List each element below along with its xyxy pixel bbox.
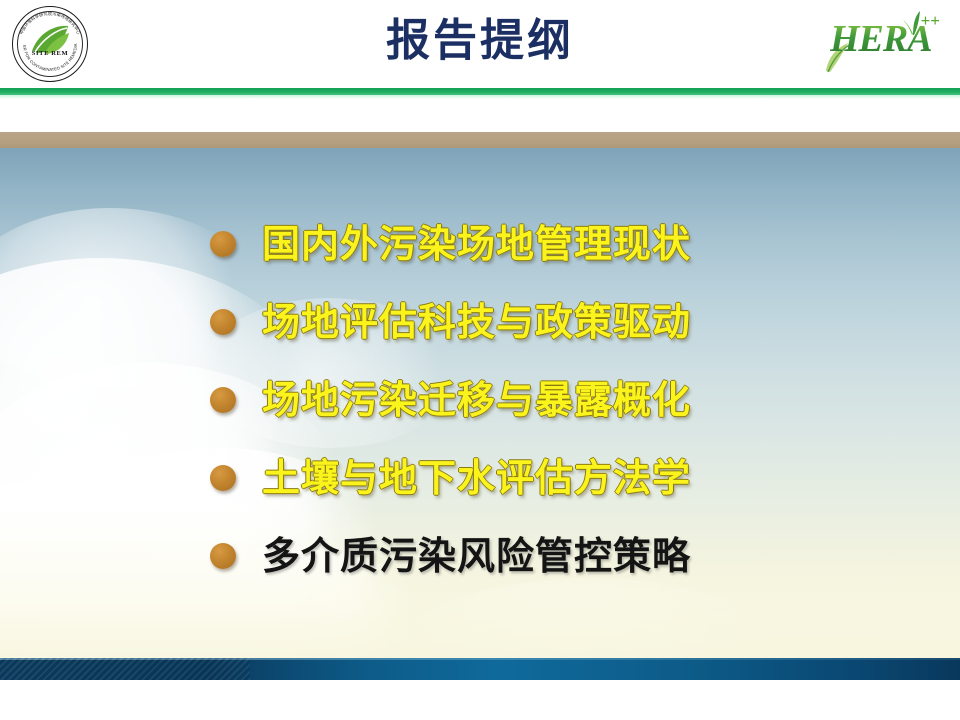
list-item-label: 多介质污染风险管控策略 bbox=[262, 537, 691, 575]
bullet-dot-icon bbox=[210, 465, 236, 491]
list-item-label: 场地评估科技与政策驱动 bbox=[262, 303, 691, 341]
bullet-dot-icon bbox=[210, 387, 236, 413]
green-divider-rule bbox=[0, 88, 960, 95]
tan-accent-bar bbox=[0, 132, 960, 148]
list-item-label: 场地污染迁移与暴露概化 bbox=[262, 381, 691, 419]
list-item[interactable]: 多介质污染风险管控策略 bbox=[210, 517, 830, 595]
bullet-dot-icon bbox=[210, 231, 236, 257]
header-white-gap bbox=[0, 99, 960, 132]
bullet-dot-icon bbox=[210, 309, 236, 335]
list-item[interactable]: 土壤与地下水评估方法学 bbox=[210, 439, 830, 517]
presentation-slide: 中国环境科学研究院污染场地研究中心 CENTER FOR CONTAMINATE… bbox=[0, 0, 960, 720]
list-item[interactable]: 场地污染迁移与暴露概化 bbox=[210, 361, 830, 439]
page-title: 报告提纲 bbox=[0, 0, 960, 88]
hera-logo: HERA ++ bbox=[822, 8, 942, 78]
slide-header: 中国环境科学研究院污染场地研究中心 CENTER FOR CONTAMINATE… bbox=[0, 0, 960, 88]
outline-list: 国内外污染场地管理现状 场地评估科技与政策驱动 场地污染迁移与暴露概化 土壤与地… bbox=[210, 205, 830, 595]
list-item-label: 国内外污染场地管理现状 bbox=[262, 225, 691, 263]
footer-white-area bbox=[0, 680, 960, 720]
list-item[interactable]: 场地评估科技与政策驱动 bbox=[210, 283, 830, 361]
list-item-label: 土壤与地下水评估方法学 bbox=[262, 459, 691, 497]
footer-hatch-texture bbox=[0, 658, 250, 680]
list-item[interactable]: 国内外污染场地管理现状 bbox=[210, 205, 830, 283]
hera-superscript: ++ bbox=[921, 12, 940, 29]
hera-wordmark: HERA bbox=[830, 20, 932, 58]
bullet-dot-icon bbox=[210, 543, 236, 569]
footer-accent-band bbox=[0, 658, 960, 680]
